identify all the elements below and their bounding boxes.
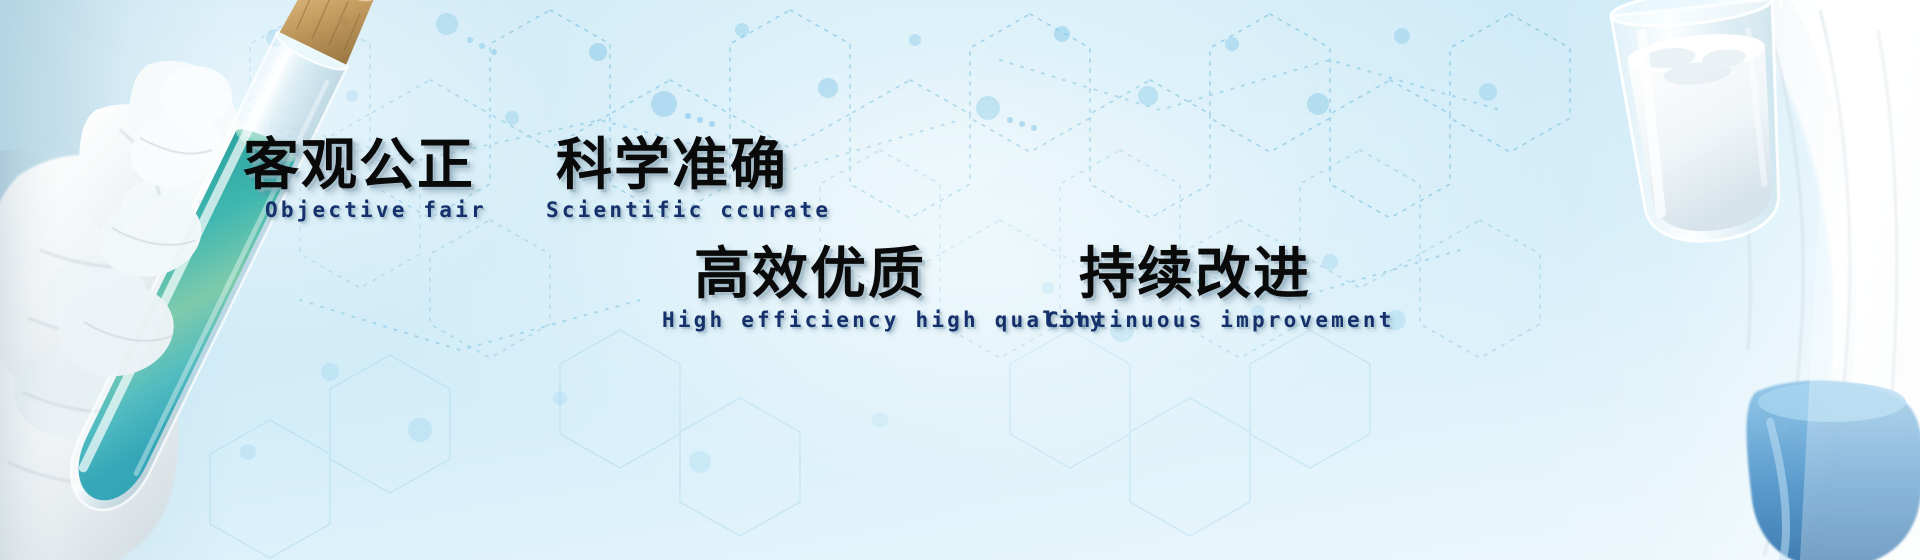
slogan-subtitle-4: Continuous improvement	[1046, 310, 1395, 331]
slogan-subtitle-3: High efficiency high quality	[662, 310, 1106, 331]
slogan-subtitle-2: Scientific ccurate	[546, 200, 831, 221]
slogan-heading-2: 科学准确	[556, 138, 788, 194]
slogan-subtitle-1: Objective fair	[265, 200, 487, 221]
slogan-heading-3: 高效优质	[694, 247, 926, 303]
slogan-heading-1: 客观公正	[243, 138, 475, 194]
slogan-text-group: 客观公正 Objective fair 科学准确 Scientific ccur…	[0, 0, 1920, 560]
slogan-heading-4: 持续改进	[1079, 247, 1311, 303]
banner-hero: 客观公正 Objective fair 科学准确 Scientific ccur…	[0, 0, 1920, 560]
